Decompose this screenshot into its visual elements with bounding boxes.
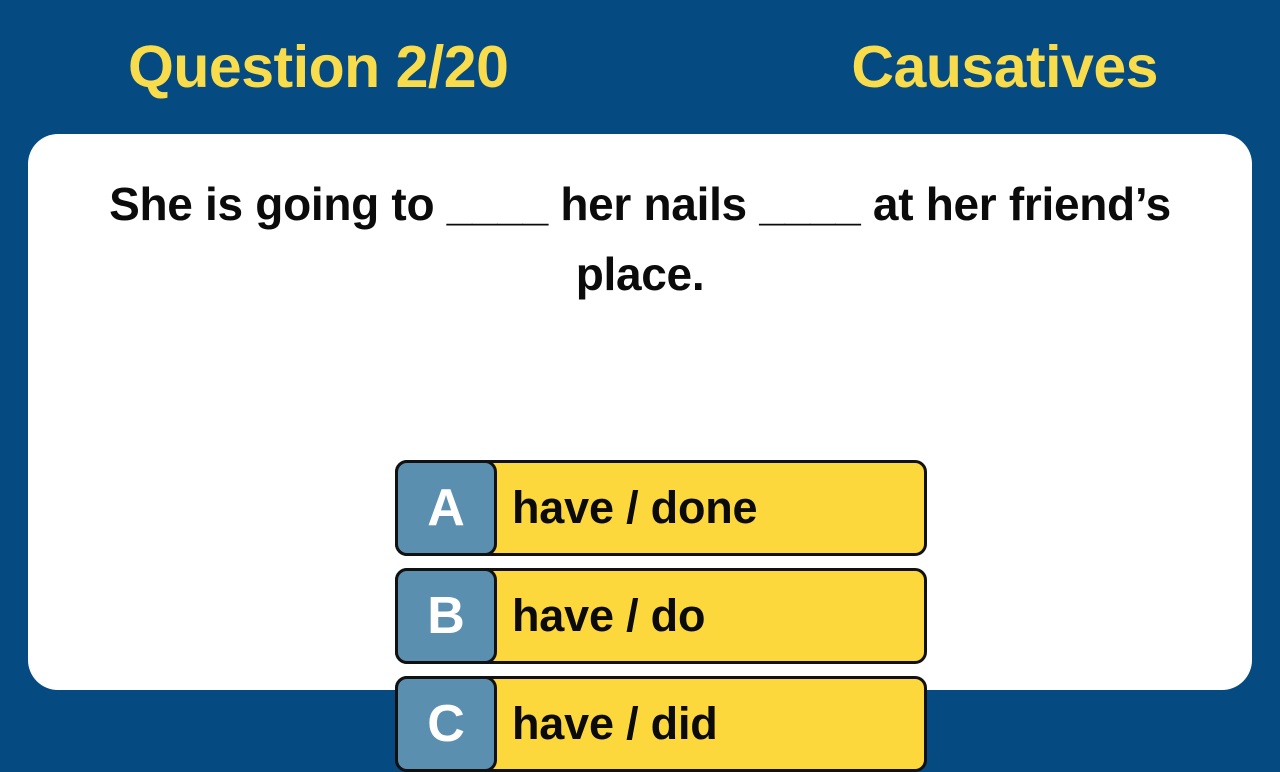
question-card: She is going to ____ her nails ____ at h… xyxy=(28,134,1252,690)
question-text: She is going to ____ her nails ____ at h… xyxy=(80,170,1200,310)
question-prefix: She is going to xyxy=(109,178,447,230)
answer-option-c[interactable]: C have / did xyxy=(395,676,927,772)
answer-option-b-label: have / do xyxy=(512,568,705,664)
question-middle: her nails xyxy=(548,178,759,230)
answer-option-a-label: have / done xyxy=(512,460,757,556)
question-counter: Question 2/20 xyxy=(128,38,508,97)
answer-option-b[interactable]: B have / do xyxy=(395,568,927,664)
question-blank-2: ____ xyxy=(759,170,860,240)
slide-header: Question 2/20 Causatives xyxy=(0,28,1280,106)
answer-option-b-letter-badge[interactable]: B xyxy=(395,568,497,664)
answer-option-a-letter-badge[interactable]: A xyxy=(395,460,497,556)
topic-title: Causatives xyxy=(851,38,1158,97)
answer-options-list: A have / done B have / do C have / did xyxy=(395,460,927,772)
question-blank-1: ____ xyxy=(447,170,548,240)
quiz-slide: Question 2/20 Causatives She is going to… xyxy=(0,0,1280,720)
answer-option-c-letter-badge[interactable]: C xyxy=(395,676,497,772)
answer-option-a[interactable]: A have / done xyxy=(395,460,927,556)
answer-option-c-label: have / did xyxy=(512,676,718,772)
